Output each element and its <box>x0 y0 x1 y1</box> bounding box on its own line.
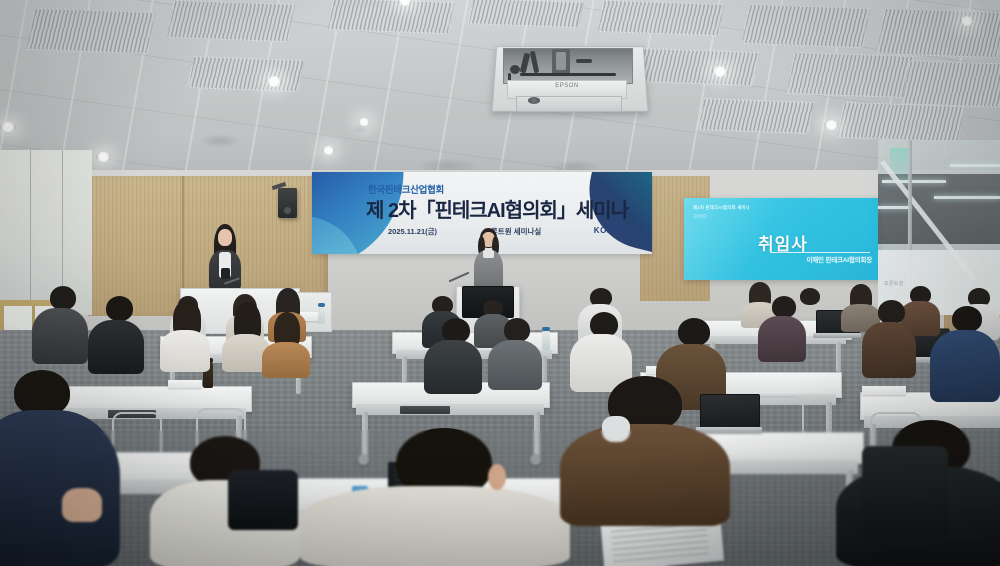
ceiling-downlight <box>0 122 16 132</box>
ceiling-downlight <box>712 66 728 77</box>
ceiling-vent <box>327 0 455 34</box>
person-torso <box>300 486 570 566</box>
person-hair <box>952 306 982 332</box>
person-torso <box>424 340 482 394</box>
ceiling-vent <box>597 0 725 36</box>
person-torso <box>862 322 916 378</box>
corridor-light-tube <box>934 196 1000 199</box>
corridor-light-tube <box>950 164 1000 167</box>
audience-person <box>424 318 484 394</box>
bag <box>228 470 298 530</box>
projector-lens-icon <box>528 97 540 104</box>
desk-paper <box>862 386 906 395</box>
banner-logo: KORFIN <box>594 226 628 235</box>
person-torso <box>0 410 120 566</box>
person-ear <box>488 464 506 490</box>
person-torso <box>930 330 1000 402</box>
audience-person <box>758 296 808 362</box>
desk-leg <box>836 342 841 372</box>
person-hair <box>678 318 710 346</box>
person-torso <box>488 340 542 390</box>
ceiling-vent <box>166 0 295 42</box>
ceiling-vent <box>901 60 1000 108</box>
wall-speaker-driver <box>284 207 291 214</box>
person-torso <box>262 342 310 378</box>
audience-person <box>930 306 1000 402</box>
ceiling-downlight <box>960 16 974 26</box>
audience-person <box>88 296 146 374</box>
audience-person-foreground <box>560 376 730 526</box>
person-hair <box>504 318 530 342</box>
desk-paper <box>168 380 202 388</box>
person-hair <box>106 296 133 321</box>
corridor-light-tube <box>878 206 912 209</box>
audience-person <box>862 300 918 378</box>
ceiling-downlight <box>96 152 111 162</box>
ceiling-vent <box>786 52 916 98</box>
person-torso <box>160 330 210 372</box>
ceiling-downlight <box>266 76 282 87</box>
ceiling-downlight <box>322 146 335 155</box>
audience-person-foreground <box>300 428 570 566</box>
audience-person <box>30 286 90 364</box>
ceiling-smudge <box>198 134 242 148</box>
projector-cavity <box>503 48 633 84</box>
person-hair <box>772 296 796 318</box>
ceiling-downlight <box>358 118 370 126</box>
person-hair <box>878 300 905 324</box>
screen-glare <box>684 198 882 280</box>
ceiling-vent <box>187 56 305 92</box>
host-person <box>204 224 248 296</box>
person-hair <box>50 286 76 310</box>
projection-screen: 제2차 핀테크AI협의회 세미나 〉〉〉〉〉〉〉〉〉 취임사 이해민 핀테크AI… <box>684 198 882 280</box>
backpack <box>862 446 948 538</box>
desk-cable-module <box>400 406 450 414</box>
person-torso <box>560 424 730 526</box>
ceiling-downlight <box>824 120 839 130</box>
audience-person <box>160 300 212 372</box>
seminar-room-photo: EPSON 한국핀테크산업협회 제 2차「핀테크AI협의회」세미나 2025.1… <box>0 0 1000 566</box>
ceiling-vent <box>468 0 585 28</box>
ceiling-vent <box>26 8 156 54</box>
person-hand <box>62 488 102 522</box>
projector-brand-label: EPSON <box>545 83 589 92</box>
presenter-collar <box>483 250 494 258</box>
banner-title: 제 2차「핀테크AI협의회」세미나 <box>366 194 628 223</box>
person-torso <box>32 308 88 364</box>
audience-person <box>262 312 312 378</box>
desk-apron <box>356 404 544 415</box>
host-phone <box>221 268 230 279</box>
bottle-cap <box>318 303 325 307</box>
ceiling-vent <box>876 8 1000 58</box>
ceiling-vent <box>837 102 966 142</box>
ceiling-vent <box>741 4 871 48</box>
audience-person <box>488 318 544 390</box>
banner-date: 2025.11.21(금) <box>388 226 437 237</box>
ceiling-vent <box>637 48 760 86</box>
audience-person-foreground <box>0 370 120 566</box>
person-torso <box>758 316 806 362</box>
water-bottle <box>318 306 325 324</box>
ceiling-vent <box>697 98 815 134</box>
host-head <box>218 229 232 246</box>
face-mask <box>602 416 630 442</box>
person-torso <box>88 320 144 374</box>
